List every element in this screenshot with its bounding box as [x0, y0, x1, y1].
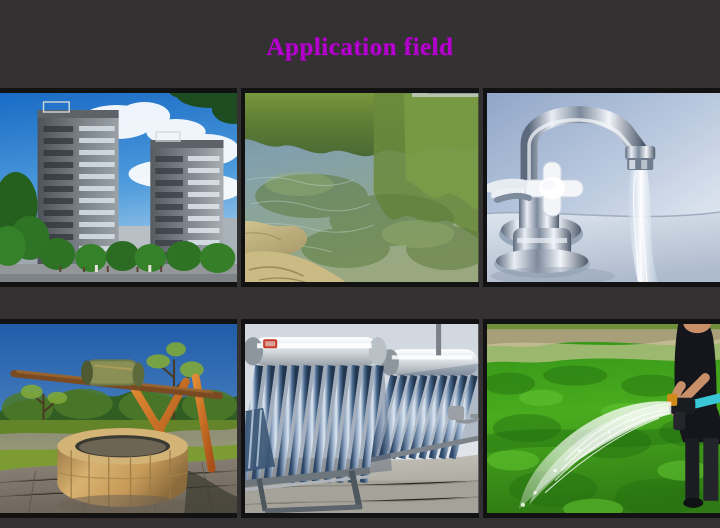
- gallery-row-2: [0, 319, 720, 518]
- photo-frame-bottom: [483, 282, 720, 287]
- photo-frame-top: [0, 88, 237, 93]
- pond-water-reflection-image: [241, 88, 478, 287]
- photo-frame-top: [483, 319, 720, 324]
- photo-frame-top: [241, 319, 478, 324]
- stone-water-well-image: [0, 319, 237, 518]
- application-gallery: [0, 88, 720, 518]
- photo-frame-top: [241, 88, 478, 93]
- field-irrigation-image: [483, 319, 720, 518]
- photo-frame-bottom: [0, 282, 237, 287]
- urban-residential-buildings-image: [0, 88, 237, 287]
- gallery-row-1: [0, 88, 720, 287]
- photo-frame-top: [0, 319, 237, 324]
- photo-frame-left: [483, 319, 487, 518]
- photo-frame-top: [483, 88, 720, 93]
- page-title: Application field: [0, 34, 720, 62]
- gallery-item-pond-water-reflection[interactable]: [241, 88, 478, 287]
- photo-frame-left: [483, 88, 487, 287]
- gallery-item-chrome-water-faucet[interactable]: [483, 88, 720, 287]
- application-field-page: Application field: [0, 0, 720, 528]
- solar-water-heater-image: [241, 319, 478, 518]
- photo-frame-bottom: [241, 513, 478, 518]
- gallery-item-urban-residential-buildings[interactable]: [0, 88, 237, 287]
- gallery-item-field-irrigation[interactable]: [483, 319, 720, 518]
- photo-frame-left: [241, 88, 245, 287]
- photo-frame-bottom: [0, 513, 237, 518]
- gallery-item-solar-water-heater[interactable]: [241, 319, 478, 518]
- gallery-item-stone-water-well[interactable]: [0, 319, 237, 518]
- photo-frame-bottom: [241, 282, 478, 287]
- photo-frame-bottom: [483, 513, 720, 518]
- photo-frame-left: [241, 319, 245, 518]
- chrome-water-faucet-image: [483, 88, 720, 287]
